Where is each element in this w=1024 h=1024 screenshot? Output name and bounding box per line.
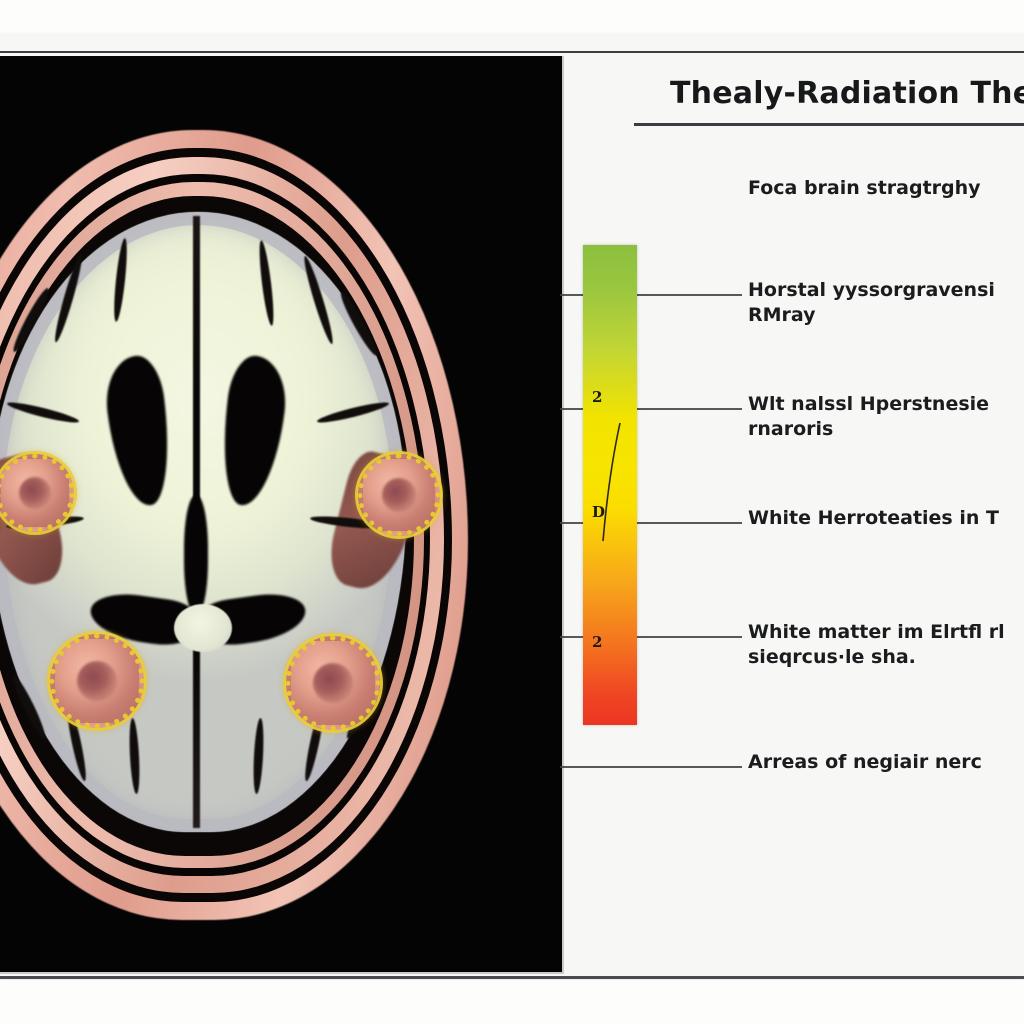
legend-line: Wlt nalssl Hperstnesie — [748, 392, 1024, 417]
legend-entry: Wlt nalssl Hperstnesie rnaroris — [748, 392, 1024, 442]
legend-entry: White Herroteaties in T — [748, 506, 1024, 531]
lesion-marker[interactable] — [358, 454, 440, 536]
legend-line: RMray — [748, 303, 1024, 328]
third-ventricle — [184, 496, 208, 614]
legend-entry: Foca brain stragtrghy — [748, 176, 1024, 201]
legend-entry: Arreas of negiair nerc — [748, 750, 1024, 775]
colorbar-tick-label: 2 — [592, 633, 602, 651]
colorbar-pointer-curve — [601, 421, 623, 543]
legend-line: White matter im Elrtfl rl — [748, 620, 1024, 645]
legend-line: Foca brain stragtrghy — [748, 176, 1024, 201]
legend-line: sieqrcus·le sha. — [748, 645, 1024, 670]
leader-line — [560, 766, 742, 768]
legend-entry: White matter im Elrtfl rl sieqrcus·le sh… — [748, 620, 1024, 670]
dose-colorbar[interactable]: 2 D 2 — [583, 245, 637, 725]
colorbar-tick-label: 2 — [592, 388, 602, 406]
card-bottom-divider — [0, 976, 1024, 979]
figure-title: Thealy-Radiation Therap — [670, 76, 1024, 111]
figure-page: Thealy-Radiation Therap 2 D 2 Foca brain… — [0, 0, 1024, 1024]
annotation-panel: Thealy-Radiation Therap 2 D 2 Foca brain… — [562, 56, 1024, 976]
card-top-divider — [0, 51, 1024, 53]
legend-line: Arreas of negiair nerc — [748, 750, 1024, 775]
mri-stage — [0, 56, 562, 972]
legend-line: rnaroris — [748, 417, 1024, 442]
legend-line: White Herroteaties in T — [748, 506, 1024, 531]
midbrain-structure — [174, 604, 232, 652]
lesion-marker[interactable] — [286, 636, 380, 730]
title-divider — [634, 123, 1024, 126]
mri-image-panel[interactable] — [0, 56, 564, 974]
legend-entry: Horstal yyssorgravensi RMray — [748, 278, 1024, 328]
legend-line: Horstal yyssorgravensi — [748, 278, 1024, 303]
lesion-marker[interactable] — [50, 634, 144, 728]
